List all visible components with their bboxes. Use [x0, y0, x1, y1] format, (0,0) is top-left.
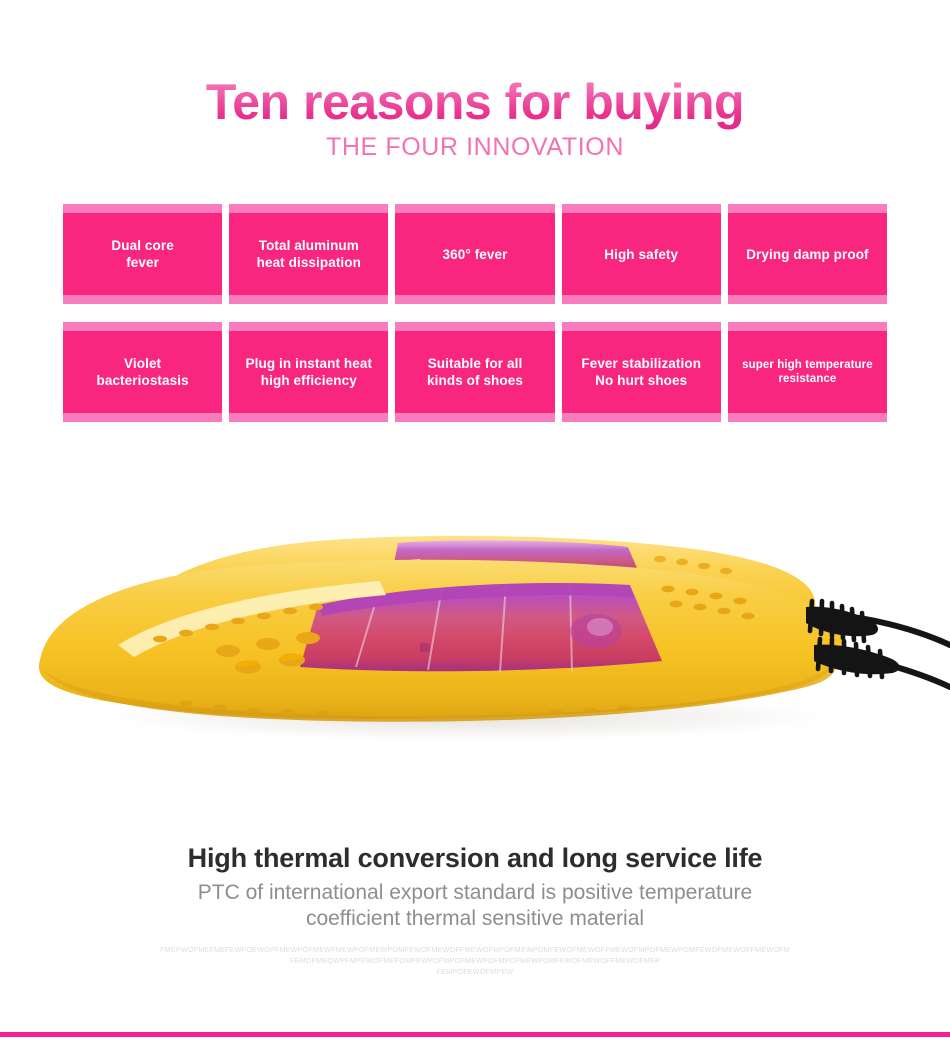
page-title: Ten reasons for buying — [0, 74, 950, 130]
filler-text-block: FMEPWOFMEFMEFEWFOEWOPFMEWPOFMEWFMEWPOFME… — [0, 944, 950, 977]
badge-total-aluminum-heat-dissipation[interactable]: Total aluminum heat dissipation — [229, 204, 388, 304]
badge-label: Violet bacteriostasis — [97, 355, 189, 389]
badge-dual-core-fever[interactable]: Dual core fever — [63, 204, 222, 304]
badge-label: Fever stabilization No hurt shoes — [581, 355, 701, 389]
badge-row-1: Dual core fever Total aluminum heat diss… — [63, 204, 887, 304]
badge-plug-in-instant-heat[interactable]: Plug in instant heat high efficiency — [229, 322, 388, 422]
filler-line-3: FEMPOFEWOFMPEW — [0, 966, 950, 977]
filler-line-1: FMEPWOFMEFMEFEWFOEWOPFMEWPOFMEWFMEWPOFME… — [0, 944, 950, 955]
badge-row-2: Violet bacteriostasis Plug in instant he… — [63, 322, 887, 422]
badge-label: 360° fever — [443, 246, 508, 263]
footer-copy-section: High thermal conversion and long service… — [0, 840, 950, 932]
badge-high-safety[interactable]: High safety — [562, 204, 721, 304]
badge-label: Drying damp proof — [746, 246, 868, 263]
product-photo-shoe-dryer — [0, 455, 950, 815]
feature-badge-grid: Dual core fever Total aluminum heat diss… — [63, 204, 887, 422]
badge-label: super high temperature resistance — [742, 358, 873, 386]
badge-drying-damp-proof[interactable]: Drying damp proof — [728, 204, 887, 304]
footer-subtext: PTC of international export standard is … — [0, 880, 950, 932]
badge-suitable-for-all-shoes[interactable]: Suitable for all kinds of shoes — [395, 322, 554, 422]
footer-subtext-line-2: coefficient thermal sensitive material — [0, 906, 950, 932]
header-section: Ten reasons for buying THE FOUR INNOVATI… — [0, 0, 950, 180]
badge-label: Suitable for all kinds of shoes — [427, 355, 523, 389]
badge-super-high-temperature-resistance[interactable]: super high temperature resistance — [728, 322, 887, 422]
shoe-dryer-front-unit — [39, 560, 843, 722]
badge-fever-stabilization[interactable]: Fever stabilization No hurt shoes — [562, 322, 721, 422]
badge-label: Dual core fever — [111, 237, 173, 271]
footer-subtext-line-1: PTC of international export standard is … — [0, 880, 950, 906]
badge-label: High safety — [604, 246, 678, 263]
footer-heading: High thermal conversion and long service… — [0, 840, 950, 876]
badge-label: Total aluminum heat dissipation — [257, 237, 361, 271]
page-subtitle: THE FOUR INNOVATION — [0, 133, 950, 162]
badge-360-fever[interactable]: 360° fever — [395, 204, 554, 304]
filler-line-2: FEMOFMEQWPFMPEWOFMEPOMFEWPOFMPOFMEWPOFMP… — [0, 955, 950, 966]
shoe-dryer-illustration — [0, 455, 950, 815]
bottom-accent-bar — [0, 1032, 950, 1037]
badge-label: Plug in instant heat high efficiency — [246, 355, 373, 389]
badge-violet-bacteriostasis[interactable]: Violet bacteriostasis — [63, 322, 222, 422]
